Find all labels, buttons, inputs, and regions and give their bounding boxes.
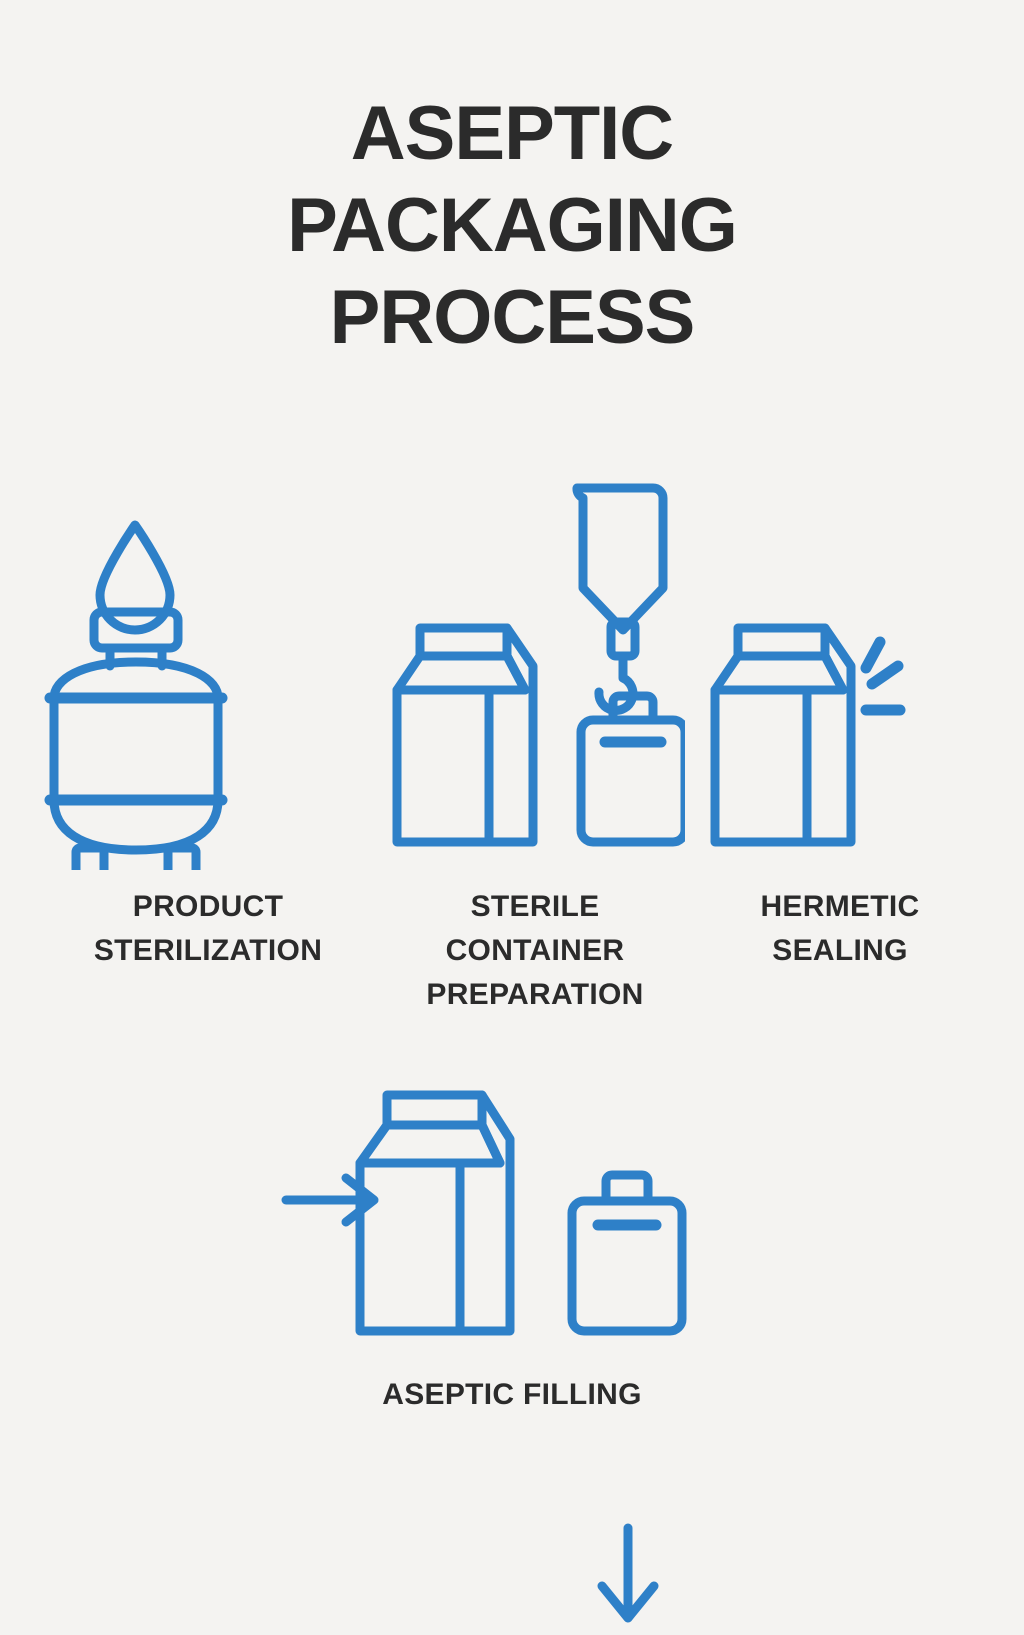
title-line-2: PACKAGING — [0, 180, 1024, 272]
step-label-hermetic-sealing: HERMETIC SEALING — [690, 885, 990, 973]
aseptic-filling-art — [282, 1055, 742, 1355]
crane-hoist-hook-icon — [577, 488, 663, 710]
down-arrow-icon — [588, 1520, 668, 1630]
process-steps: PRODUCT STERILIZATION — [0, 470, 1024, 1040]
tank-leg-left — [76, 848, 104, 870]
step-aseptic-filling[interactable]: ASEPTIC FILLING — [282, 1055, 742, 1355]
step-product-sterilization[interactable]: PRODUCT STERILIZATION — [28, 470, 388, 870]
tank-leg-right — [168, 848, 196, 870]
sterile-container-preparation-icon-group — [385, 470, 685, 870]
tank-body-icon — [54, 662, 218, 850]
connector-arrow-down — [588, 1520, 668, 1635]
sterilization-tank-icon — [28, 470, 328, 870]
step-label-aseptic-filling: ASEPTIC FILLING — [282, 1373, 742, 1417]
product-sterilization-art — [28, 470, 388, 870]
sparkle-line-1 — [866, 642, 880, 668]
step-label-product-sterilization: PRODUCT STERILIZATION — [28, 885, 388, 973]
step-label-sterile-container-preparation: STERILE CONTAINER PREPARATION — [385, 885, 685, 1017]
milk-carton-icon — [360, 1095, 510, 1331]
container-jug-icon — [581, 696, 685, 842]
page-title: ASEPTIC PACKAGING PROCESS — [0, 88, 1024, 364]
step-hermetic-sealing[interactable]: HERMETIC SEALING — [690, 470, 990, 870]
aseptic-filling-icon-group — [282, 1055, 742, 1355]
title-line-3: PROCESS — [0, 272, 1024, 364]
infographic-canvas: ASEPTIC PACKAGING PROCESS — [0, 0, 1024, 1536]
sterile-container-preparation-art — [385, 470, 685, 870]
milk-carton-icon — [397, 628, 533, 842]
hermetic-sealing-art — [690, 470, 990, 870]
sparkle-line-2 — [872, 666, 898, 684]
sparkle-shine-icon — [866, 642, 900, 710]
container-jug-icon — [572, 1175, 682, 1331]
title-line-1: ASEPTIC — [0, 88, 1024, 180]
hermetic-sealing-icon-group — [690, 470, 990, 870]
step-sterile-container-preparation[interactable]: STERILE CONTAINER PREPARATION — [385, 470, 685, 870]
milk-carton-icon — [715, 628, 851, 842]
